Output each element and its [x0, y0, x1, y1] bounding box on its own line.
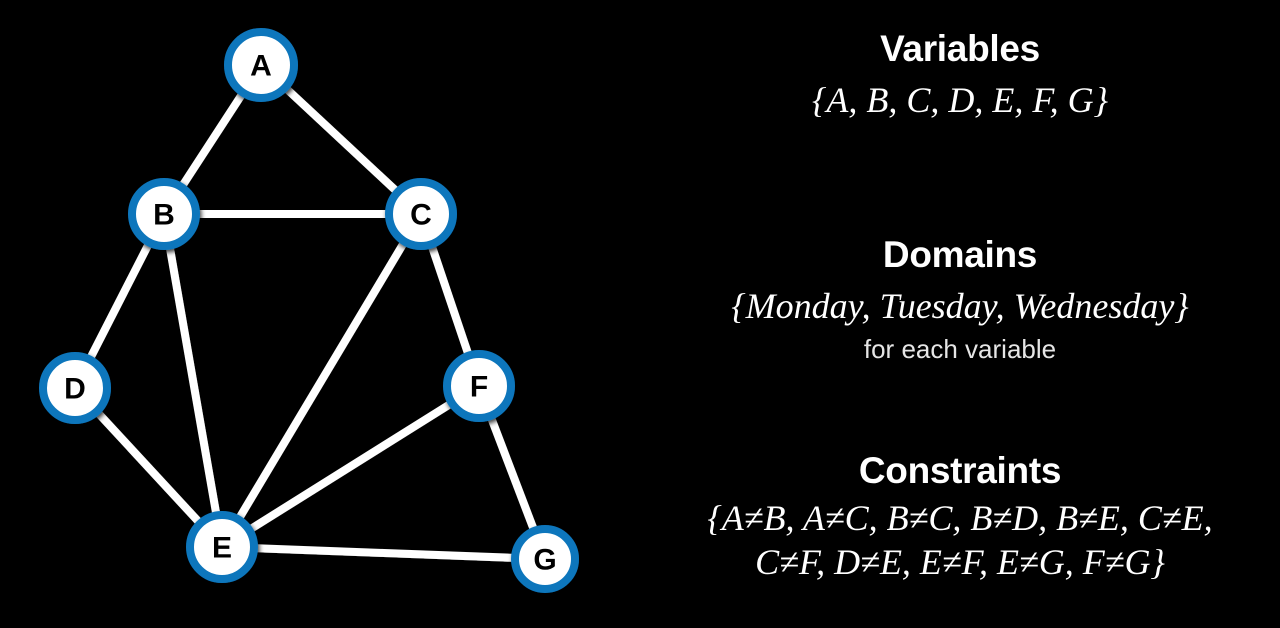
variables-section: Variables {A, B, C, D, E, F, G} [640, 26, 1280, 122]
node-layer: ABCDEFG [43, 32, 575, 589]
constraint-graph-panel: ABCDEFG [0, 0, 640, 628]
node-label-g: G [533, 544, 556, 577]
node-label-b: B [153, 199, 175, 232]
node-label-f: F [470, 371, 488, 404]
node-label-a: A [250, 50, 272, 83]
constraints-set-line-1: {A≠B, A≠C, B≠C, B≠D, B≠E, C≠E, [640, 494, 1280, 538]
graph-edge-e-g [222, 547, 545, 559]
constraints-heading: Constraints [640, 448, 1280, 494]
domains-heading: Domains [640, 232, 1280, 278]
graph-edge-e-f [222, 386, 479, 547]
graph-node-g[interactable]: G [515, 529, 575, 589]
constraints-section: Constraints {A≠B, A≠C, B≠C, B≠D, B≠E, C≠… [640, 448, 1280, 582]
graph-node-c[interactable]: C [389, 182, 453, 246]
domains-set: {Monday, Tuesday, Wednesday} [640, 278, 1280, 328]
node-label-e: E [212, 532, 232, 565]
graph-node-d[interactable]: D [43, 356, 107, 420]
graph-node-b[interactable]: B [132, 182, 196, 246]
domains-section: Domains {Monday, Tuesday, Wednesday} for… [640, 232, 1280, 366]
slide-root: ABCDEFG Variables {A, B, C, D, E, F, G} … [0, 0, 1280, 628]
graph-node-e[interactable]: E [190, 515, 254, 579]
constraints-set-line-2: C≠F, D≠E, E≠F, E≠G, F≠G} [640, 538, 1280, 582]
constraint-graph: ABCDEFG [0, 0, 640, 628]
graph-node-f[interactable]: F [447, 354, 511, 418]
node-label-c: C [410, 199, 432, 232]
definition-panel: Variables {A, B, C, D, E, F, G} Domains … [640, 0, 1280, 628]
variables-heading: Variables [640, 26, 1280, 72]
graph-node-a[interactable]: A [228, 32, 294, 98]
graph-edge-c-e [222, 214, 421, 547]
domains-note: for each variable [640, 328, 1280, 366]
edge-layer [75, 65, 545, 559]
node-label-d: D [64, 373, 86, 406]
variables-set: {A, B, C, D, E, F, G} [640, 72, 1280, 122]
